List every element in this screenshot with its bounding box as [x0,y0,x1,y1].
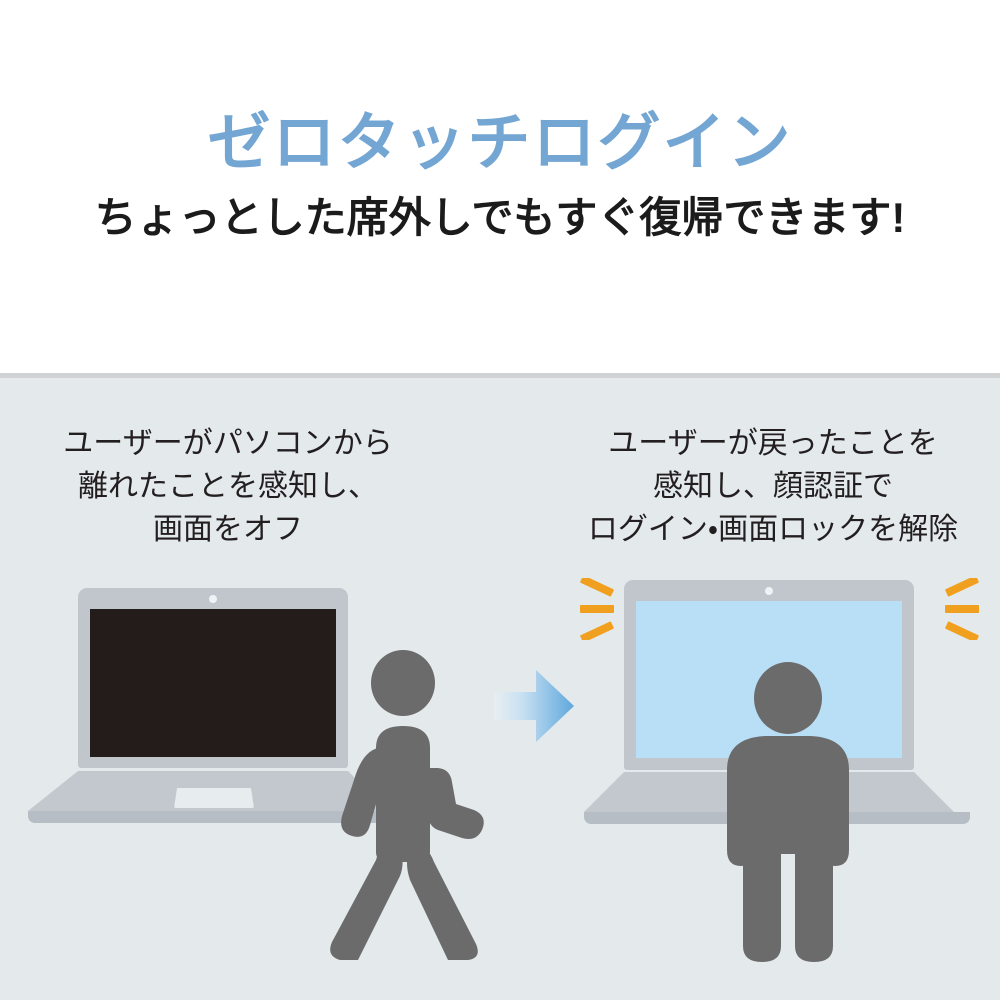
standing-person-left-leg [743,834,781,962]
webcam-dot-left [209,595,217,603]
standing-person-figure [703,654,873,966]
standing-person-svg [703,654,873,966]
left-caption: ユーザーがパソコンから 離れたことを感知し、 画面をオフ [18,422,438,551]
header-section: ゼロタッチログイン ちょっとした席外しでもすぐ復帰できます! [0,0,1000,373]
right-caption-line-1: ユーザーが戻ったことを [548,422,998,465]
infographic-page: ゼロタッチログイン ちょっとした席外しでもすぐ復帰できます! ユーザーがパソコン… [0,0,1000,1000]
walking-person-back-leg [330,840,402,960]
right-caption: ユーザーが戻ったことを 感知し、顔認証で ログイン・画面ロックを解除 [548,422,998,551]
transition-arrow [492,664,576,748]
walking-person-torso [376,726,430,862]
left-caption-line-3: 画面をオフ [18,508,438,551]
left-caption-line-2: 離れたことを感知し、 [18,465,438,508]
flash-lines-right [933,578,981,640]
flash-icon-right [933,578,981,640]
left-caption-line-1: ユーザーがパソコンから [18,422,438,465]
arrow-right-icon [492,664,576,748]
laptop-display-left [90,609,336,757]
standing-person-head [754,662,822,734]
flash-dash-middle-right [945,605,979,613]
webcam-dot-right [765,587,773,595]
walking-person-head [371,650,435,716]
walking-person-svg [318,640,498,960]
standing-person-right-leg [795,834,833,962]
page-title: ゼロタッチログイン [0,112,1000,175]
right-caption-line-3: ログイン・画面ロックを解除 [548,508,998,551]
page-subtitle: ちょっとした席外しでもすぐ復帰できます! [0,197,1000,239]
walking-person-front-leg [407,844,478,960]
flash-dash-lower-right [945,621,979,640]
flash-dash-lower-left [580,621,614,640]
flash-icon-left [578,578,626,640]
flash-dash-middle-left [580,605,614,613]
flash-lines-left [578,578,626,640]
diagram-panel: ユーザーがパソコンから 離れたことを感知し、 画面をオフ ユーザーが戻ったことを… [0,378,1000,1000]
walking-person-front-arm [428,768,484,839]
flash-dash-upper-left [580,578,614,597]
flash-dash-upper-right [945,578,979,597]
right-caption-line-2: 感知し、顔認証で [548,465,998,508]
laptop-trackpad-left [174,788,254,808]
walking-person-figure [318,640,498,960]
